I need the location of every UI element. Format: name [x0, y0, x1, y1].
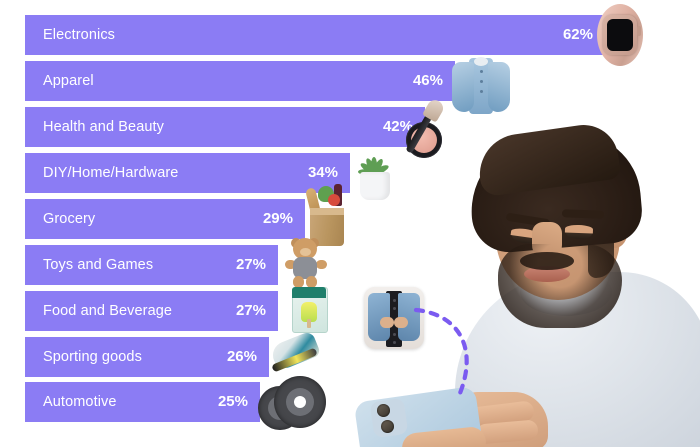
- person-photo: [0, 0, 700, 447]
- eyebrow-right: [562, 209, 604, 218]
- card-hand-left: [380, 317, 394, 328]
- card-button: [393, 341, 396, 344]
- card-button: [393, 299, 396, 302]
- mustache: [520, 252, 574, 270]
- dashed-arc-connector: [402, 300, 522, 420]
- camera-lens: [381, 420, 394, 433]
- card-button: [393, 333, 396, 336]
- eyelid-right: [565, 225, 593, 234]
- camera-lens: [377, 404, 390, 417]
- card-button: [393, 307, 396, 310]
- infographic-canvas: Electronics 62% Apparel 46% Health and B…: [0, 0, 700, 447]
